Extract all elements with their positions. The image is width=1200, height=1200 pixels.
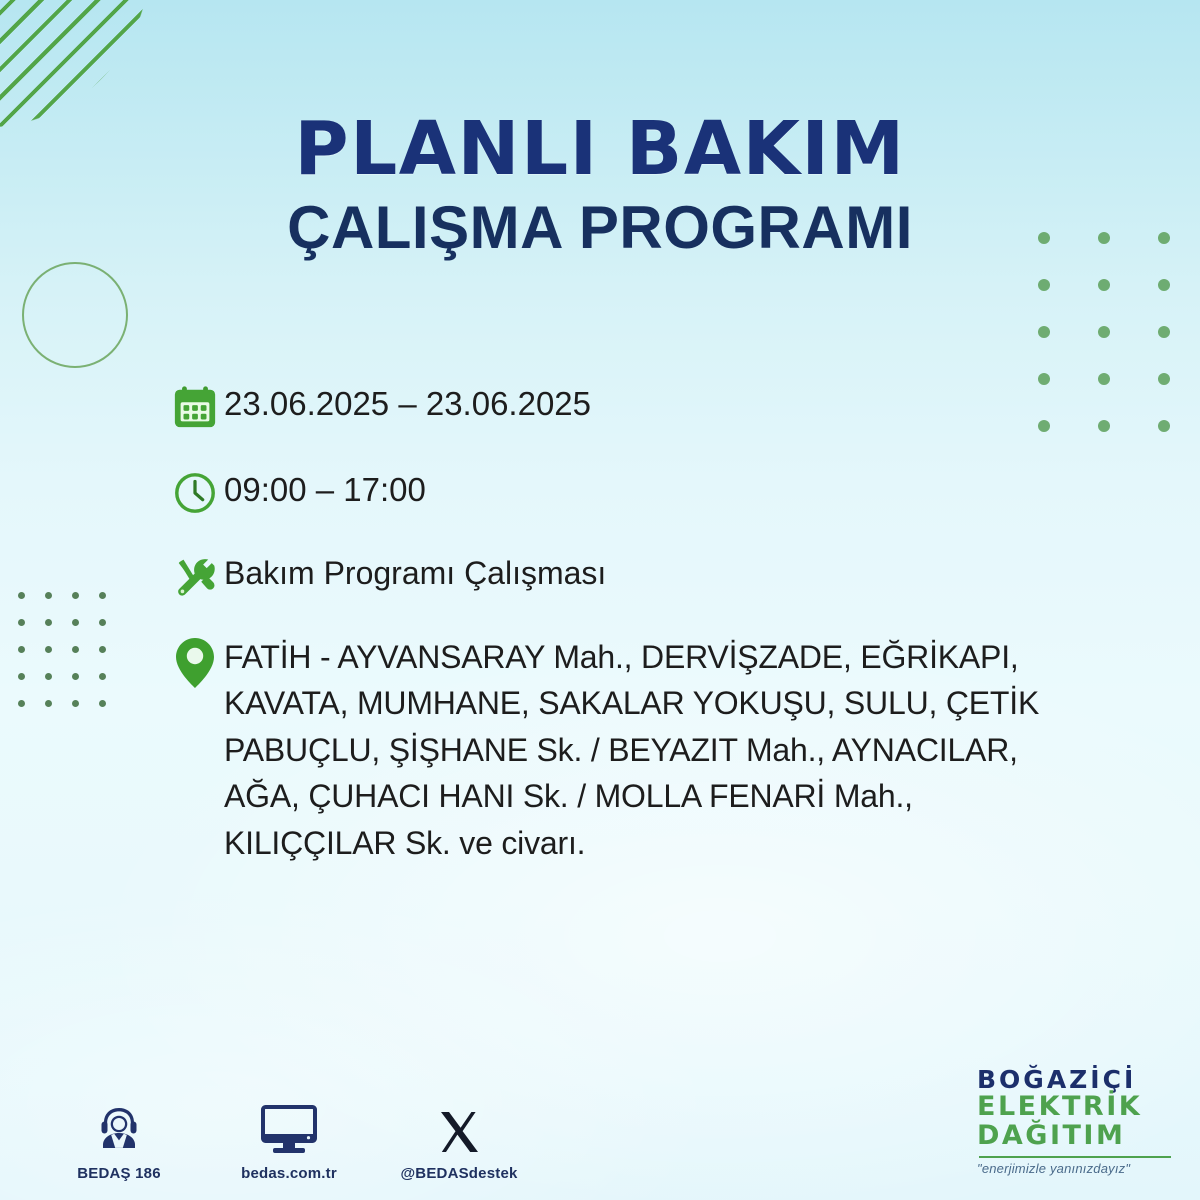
- outage-info-list: 23.06.2025 – 23.06.2025 09:00 – 17:00: [166, 378, 1176, 888]
- contact-x-account[interactable]: @BEDASdestek: [400, 1100, 518, 1182]
- dot: [99, 619, 106, 626]
- dot: [72, 673, 79, 680]
- location-line: AĞA, ÇUHACI HANI Sk. / MOLLA FENARİ Mah.…: [224, 773, 1039, 819]
- brand-line-dagitim: DAĞITIM: [977, 1122, 1182, 1150]
- location-line: KAVATA, MUMHANE, SAKALAR YOKUŞU, SULU, Ç…: [224, 680, 1039, 726]
- contact-call-center[interactable]: BEDAŞ 186: [60, 1100, 178, 1182]
- dot: [18, 619, 25, 626]
- dot: [72, 619, 79, 626]
- dot: [45, 592, 52, 599]
- contact-label: BEDAŞ 186: [60, 1165, 178, 1182]
- dot: [72, 700, 79, 707]
- dot: [1098, 279, 1110, 291]
- info-row-date: 23.06.2025 – 23.06.2025: [166, 378, 1176, 436]
- dot: [45, 619, 52, 626]
- dot: [18, 673, 25, 680]
- headset-support-icon: [60, 1100, 178, 1156]
- dot: [72, 592, 79, 599]
- contact-label: @BEDASdestek: [400, 1165, 518, 1182]
- dot: [99, 673, 106, 680]
- clock-icon: [166, 464, 224, 522]
- dot: [1038, 326, 1050, 338]
- dot-grid-left-decoration: [18, 592, 109, 710]
- dot: [1098, 326, 1110, 338]
- bedas-logo: BOĞAZİÇİ ELEKTRİK DAĞITIM "enerjimizle y…: [977, 1067, 1182, 1176]
- dot: [45, 700, 52, 707]
- dot: [45, 673, 52, 680]
- dot: [1038, 279, 1050, 291]
- dot: [18, 700, 25, 707]
- date-range-text: 23.06.2025 – 23.06.2025: [224, 378, 591, 422]
- dot: [1158, 326, 1170, 338]
- location-text: FATİH - AYVANSARAY Mah., DERVİŞZADE, EĞR…: [224, 632, 1039, 866]
- contact-label: bedas.com.tr: [230, 1165, 348, 1182]
- circle-outline-decoration: [22, 262, 128, 368]
- dot: [99, 592, 106, 599]
- time-range-text: 09:00 – 17:00: [224, 464, 426, 508]
- info-row-work-type: Bakım Programı Çalışması: [166, 548, 1176, 606]
- page-subtitle: ÇALIŞMA PROGRAMI: [0, 198, 1200, 258]
- dot: [18, 646, 25, 653]
- dot: [1158, 279, 1170, 291]
- work-type-text: Bakım Programı Çalışması: [224, 548, 606, 591]
- calendar-icon: [166, 378, 224, 436]
- dot: [99, 700, 106, 707]
- tools-icon: [166, 548, 224, 606]
- x-twitter-icon: [400, 1100, 518, 1156]
- dot: [99, 646, 106, 653]
- map-pin-icon: [166, 632, 224, 690]
- dot: [72, 646, 79, 653]
- info-row-time: 09:00 – 17:00: [166, 464, 1176, 522]
- page-header: PLANLI BAKIM ÇALIŞMA PROGRAMI: [0, 112, 1200, 258]
- location-line: FATİH - AYVANSARAY Mah., DERVİŞZADE, EĞR…: [224, 634, 1039, 680]
- footer-contacts: BEDAŞ 186 bedas.com.tr @BEDASdestek: [60, 1100, 518, 1182]
- monitor-icon: [230, 1100, 348, 1156]
- info-row-location: FATİH - AYVANSARAY Mah., DERVİŞZADE, EĞR…: [166, 632, 1176, 866]
- dot: [18, 592, 25, 599]
- brand-divider: [979, 1156, 1171, 1158]
- brand-tagline: "enerjimizle yanınızdayız": [977, 1161, 1182, 1176]
- contact-website[interactable]: bedas.com.tr: [230, 1100, 348, 1182]
- location-line: KILIÇÇILAR Sk. ve civarı.: [224, 820, 1039, 866]
- brand-line-bogazici: BOĞAZİÇİ: [977, 1067, 1182, 1093]
- brand-line-elektrik: ELEKTRİK: [977, 1093, 1182, 1121]
- location-line: PABUÇLU, ŞİŞHANE Sk. / BEYAZIT Mah., AYN…: [224, 727, 1039, 773]
- page-title: PLANLI BAKIM: [0, 112, 1200, 186]
- dot: [45, 646, 52, 653]
